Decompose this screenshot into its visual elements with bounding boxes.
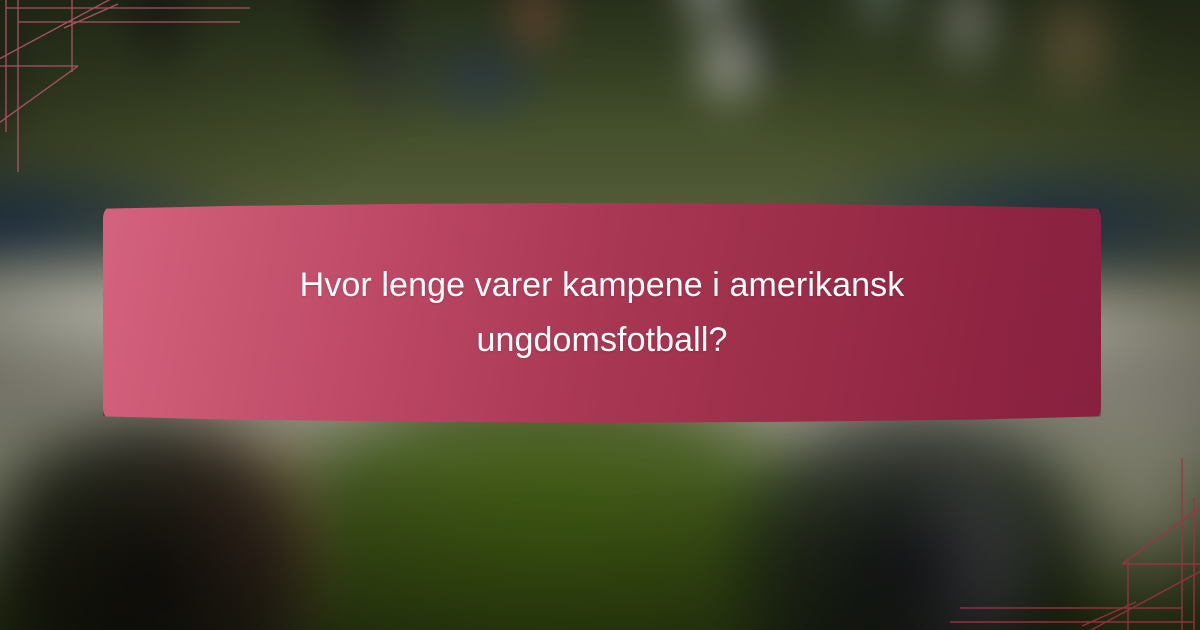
question-card: Hvor lenge varer kampene i amerikansk un… — [103, 203, 1101, 423]
question-title: Hvor lenge varer kampene i amerikansk un… — [173, 258, 1031, 368]
share-card-canvas: Hvor lenge varer kampene i amerikansk un… — [0, 0, 1200, 630]
